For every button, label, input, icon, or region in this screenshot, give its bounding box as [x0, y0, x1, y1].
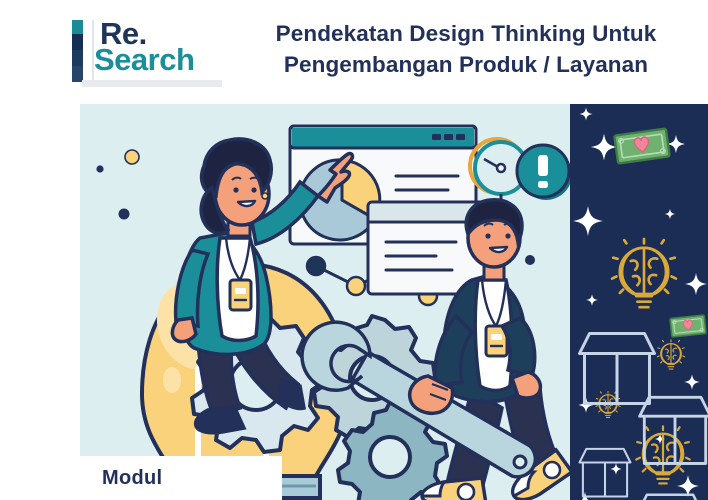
modul-band: Modul — [80, 456, 282, 500]
illustration-scene — [80, 104, 570, 500]
alert-circle-icon — [517, 145, 570, 200]
window-controls-icon — [432, 134, 465, 140]
modul-label: Modul — [102, 467, 162, 490]
page-title: Pendekatan Design Thinking Untuk Pengemb… — [240, 18, 692, 80]
logo-word-search: Search — [94, 44, 194, 75]
page-title-line2: Pengembangan Produk / Layanan — [240, 49, 692, 80]
header: Re. Search Pendekatan Design Thinking Un… — [0, 0, 708, 104]
illustration-panel: Modul — [80, 104, 708, 500]
logo-bar-icon — [72, 20, 83, 82]
banknote-icons — [572, 129, 706, 500]
page-title-line1: Pendekatan Design Thinking Untuk — [240, 18, 692, 49]
sparkle-stars — [573, 108, 707, 500]
badge-icon — [230, 280, 251, 310]
poster-root: Re. Search Pendekatan Design Thinking Un… — [0, 0, 708, 500]
storefront-icons — [580, 334, 708, 500]
logo-wordmark: Re. Search — [100, 16, 232, 88]
brand-logo: Re. Search — [72, 16, 232, 88]
dark-icon-panel — [570, 104, 708, 500]
